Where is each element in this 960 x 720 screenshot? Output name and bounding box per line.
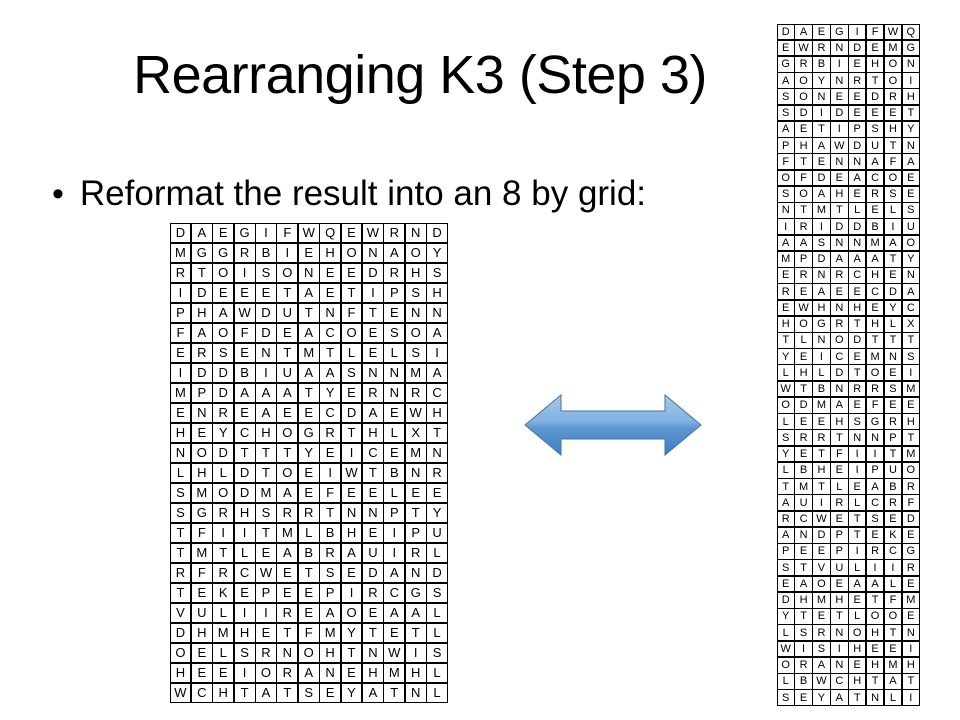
- main-grid-cell: E: [362, 603, 384, 624]
- main-grid-cell: C: [234, 423, 256, 444]
- side-grid-cell: O: [884, 608, 902, 625]
- side-grid-cell: M: [884, 40, 902, 57]
- main-grid-cell: P: [405, 523, 427, 544]
- side-grid-cell: Y: [902, 251, 920, 268]
- side-grid-cell: A: [866, 576, 884, 593]
- main-grid-cell: B: [383, 463, 405, 484]
- main-grid-cell: I: [383, 543, 405, 564]
- main-grid-cell: S: [212, 343, 234, 364]
- side-grid-cell: T: [848, 364, 866, 381]
- main-grid-cell: L: [426, 623, 448, 644]
- side-grid-cell: A: [902, 153, 920, 170]
- main-grid-cell: D: [255, 323, 277, 344]
- main-grid-cell: D: [341, 403, 363, 424]
- main-grid-cell: R: [191, 343, 213, 364]
- main-grid-cell: T: [276, 343, 298, 364]
- side-grid-cell: M: [777, 251, 795, 268]
- side-grid-cell: R: [794, 56, 812, 73]
- side-grid-cell: B: [866, 218, 884, 235]
- side-grid-cell: I: [884, 218, 902, 235]
- side-grid-cell: H: [848, 673, 866, 690]
- main-grid-cell: G: [298, 423, 320, 444]
- main-grid-cell: S: [255, 503, 277, 524]
- main-grid-cell: C: [191, 683, 213, 704]
- main-grid-cell: L: [234, 543, 256, 564]
- side-grid-cell: L: [777, 673, 795, 690]
- main-grid-cell: E: [383, 443, 405, 464]
- main-grid-cell: Y: [426, 503, 448, 524]
- side-grid-cell: I: [812, 218, 830, 235]
- side-grid-cell: R: [830, 494, 848, 511]
- side-grid-cell: T: [902, 673, 920, 690]
- side-grid-cell: H: [866, 657, 884, 674]
- side-grid-cell: R: [866, 543, 884, 560]
- main-grid-cell: P: [383, 503, 405, 524]
- main-grid-cell: U: [426, 523, 448, 544]
- main-grid-cell: N: [319, 663, 341, 684]
- side-grid-cell: N: [830, 300, 848, 317]
- side-grid-cell: T: [866, 592, 884, 609]
- main-grid-cell: L: [212, 603, 234, 624]
- main-grid-cell: Y: [341, 623, 363, 644]
- side-grid-cell: D: [902, 511, 920, 528]
- main-grid-cell: L: [383, 343, 405, 364]
- double-headed-arrow-icon: [523, 389, 703, 461]
- main-grid-cell: Q: [319, 223, 341, 244]
- side-grid-cell: I: [794, 641, 812, 658]
- side-grid-cell: N: [830, 657, 848, 674]
- main-grid-cell: A: [255, 403, 277, 424]
- side-grid-cell: O: [884, 72, 902, 89]
- main-grid-cell: T: [255, 523, 277, 544]
- side-grid-cell: Y: [812, 72, 830, 89]
- main-grid-cell: I: [234, 263, 256, 284]
- side-grid-cell: Q: [902, 24, 920, 41]
- side-grid-cell: A: [884, 673, 902, 690]
- main-grid-cell: W: [298, 223, 320, 244]
- main-grid-cell: T: [276, 283, 298, 304]
- main-grid-cell: E: [383, 403, 405, 424]
- main-grid-cell: R: [426, 463, 448, 484]
- side-grid-cell: S: [812, 641, 830, 658]
- main-grid-cell: E: [383, 303, 405, 324]
- side-grid-cell: W: [777, 641, 795, 658]
- main-grid-cell: I: [426, 343, 448, 364]
- side-grid-cell: A: [812, 186, 830, 203]
- main-grid-cell: H: [426, 403, 448, 424]
- side-grid-cell: A: [848, 251, 866, 268]
- side-grid-cell: I: [812, 105, 830, 122]
- side-grid-cell: P: [830, 527, 848, 544]
- main-grid-cell: L: [298, 523, 320, 544]
- main-grid-cell: T: [255, 443, 277, 464]
- side-grid-cell: C: [866, 283, 884, 300]
- side-grid-cell: A: [866, 153, 884, 170]
- main-grid-cell: F: [170, 323, 192, 344]
- side-grid-cell: E: [848, 478, 866, 495]
- main-grid-cell: M: [276, 523, 298, 544]
- side-grid-cell: E: [830, 576, 848, 593]
- side-grid-cell: P: [777, 543, 795, 560]
- side-grid-cell: E: [830, 170, 848, 187]
- side-grid-cell: W: [794, 40, 812, 57]
- side-grid-cell: S: [777, 105, 795, 122]
- main-grid-cell: G: [191, 503, 213, 524]
- main-grid-cell: R: [212, 403, 234, 424]
- side-grid-cell: T: [830, 429, 848, 446]
- main-grid-cell: I: [383, 523, 405, 544]
- side-grid-cell: R: [812, 624, 830, 641]
- side-grid-cell: E: [830, 283, 848, 300]
- main-grid-cell: E: [298, 583, 320, 604]
- main-grid-cell: E: [191, 583, 213, 604]
- side-grid-cell: H: [794, 137, 812, 154]
- main-grid-cell: I: [170, 283, 192, 304]
- side-grid-cell: Y: [812, 689, 830, 706]
- side-grid-cell: H: [866, 56, 884, 73]
- main-grid-cell: M: [255, 483, 277, 504]
- side-grid-cell: U: [866, 137, 884, 154]
- side-grid-cell: B: [794, 673, 812, 690]
- side-grid-cell: C: [830, 673, 848, 690]
- main-grid-cell: F: [191, 523, 213, 544]
- side-grid-cell: A: [830, 689, 848, 706]
- side-grid-cell: O: [884, 170, 902, 187]
- side-grid-cell: Y: [777, 608, 795, 625]
- main-grid-cell: X: [405, 423, 427, 444]
- side-grid-cell: N: [830, 381, 848, 398]
- main-grid-cell: A: [298, 363, 320, 384]
- main-grid-cell: T: [341, 643, 363, 664]
- main-grid-cell: R: [298, 503, 320, 524]
- side-grid-cell: R: [812, 429, 830, 446]
- side-grid-cell: R: [830, 316, 848, 333]
- side-grid-cell: P: [794, 251, 812, 268]
- main-grid-cell: A: [191, 323, 213, 344]
- side-grid-cell: O: [884, 56, 902, 73]
- main-grid-cell: H: [191, 623, 213, 644]
- side-grid-cell: E: [812, 543, 830, 560]
- side-grid-cell: E: [794, 689, 812, 706]
- side-grid-cell: H: [902, 413, 920, 430]
- main-grid-cell: Y: [341, 683, 363, 704]
- main-grid-cell: C: [319, 403, 341, 424]
- main-grid-cell: E: [341, 663, 363, 684]
- side-grid-cell: E: [830, 511, 848, 528]
- side-grid-cell: H: [848, 300, 866, 317]
- side-grid-cell: L: [848, 559, 866, 576]
- side-grid-cell: I: [902, 641, 920, 658]
- main-grid-cell: R: [276, 603, 298, 624]
- side-grid-cell: R: [830, 267, 848, 284]
- main-grid-cell: B: [234, 363, 256, 384]
- main-grid-cell: R: [170, 563, 192, 584]
- side-grid-cell: H: [866, 316, 884, 333]
- main-grid-cell: H: [319, 643, 341, 664]
- side-grid-cell: T: [884, 624, 902, 641]
- side-grid-cell: V: [812, 559, 830, 576]
- side-grid-cell: I: [884, 559, 902, 576]
- side-grid-cell: S: [884, 381, 902, 398]
- side-grid-cell: L: [830, 478, 848, 495]
- side-grid-cell: Y: [777, 446, 795, 463]
- side-grid-cell: I: [848, 24, 866, 41]
- main-grid-cell: D: [362, 263, 384, 284]
- side-grid-cell: P: [866, 462, 884, 479]
- side-grid-cell: I: [830, 56, 848, 73]
- side-grid-cell: M: [866, 348, 884, 365]
- side-grid-cell: N: [902, 624, 920, 641]
- main-grid-cell: M: [212, 623, 234, 644]
- main-grid-cell: N: [362, 363, 384, 384]
- main-grid-cell: A: [276, 483, 298, 504]
- side-grid-cell: C: [884, 543, 902, 560]
- main-grid-cell: M: [383, 663, 405, 684]
- side-grid-cell: H: [812, 300, 830, 317]
- side-grid-cell: N: [848, 153, 866, 170]
- main-grid-cell: E: [276, 583, 298, 604]
- side-grid-cell: A: [884, 235, 902, 252]
- side-grid-cell: C: [830, 348, 848, 365]
- side-grid-cell: N: [830, 40, 848, 57]
- side-grid-cell: D: [777, 24, 795, 41]
- side-grid-cell: G: [812, 316, 830, 333]
- main-grid-cell: M: [405, 443, 427, 464]
- main-grid-cell: D: [362, 563, 384, 584]
- side-grid-cell: T: [812, 478, 830, 495]
- side-grid-cell: F: [830, 446, 848, 463]
- main-grid-cell: S: [170, 503, 192, 524]
- main-grid-cell: A: [383, 563, 405, 584]
- side-grid-cell: A: [812, 137, 830, 154]
- side-grid-cell: P: [830, 543, 848, 560]
- main-grid-cell: E: [298, 463, 320, 484]
- main-grid-cell: O: [405, 323, 427, 344]
- side-grid-cell: A: [777, 235, 795, 252]
- side-grid-cell: R: [777, 511, 795, 528]
- main-grid-cell: B: [255, 243, 277, 264]
- main-grid-cell: L: [426, 663, 448, 684]
- side-grid-cell: I: [830, 121, 848, 138]
- main-grid-cell: E: [341, 383, 363, 404]
- side-grid-cell: I: [866, 446, 884, 463]
- side-grid-cell: A: [777, 527, 795, 544]
- main-grid-cell: T: [298, 383, 320, 404]
- main-grid-cell: I: [362, 283, 384, 304]
- side-grid-cell: T: [794, 381, 812, 398]
- main-grid-cell: O: [341, 603, 363, 624]
- side-grid-cell: E: [830, 462, 848, 479]
- main-grid-cell: T: [170, 523, 192, 544]
- side-grid-cell: D: [884, 283, 902, 300]
- main-grid-cell: E: [341, 563, 363, 584]
- side-grid-cell: E: [884, 397, 902, 414]
- side-grid-cell: N: [830, 153, 848, 170]
- side-grid-cell: C: [866, 170, 884, 187]
- side-grid-cell: S: [848, 413, 866, 430]
- side-grid-cell: C: [794, 511, 812, 528]
- main-grid-cell: I: [341, 583, 363, 604]
- main-grid-cell: E: [276, 563, 298, 584]
- main-grid-cell: S: [298, 683, 320, 704]
- side-grid-cell: L: [884, 316, 902, 333]
- main-grid-cell: O: [255, 663, 277, 684]
- main-grid-cell: F: [234, 323, 256, 344]
- main-grid-cell: T: [341, 283, 363, 304]
- main-grid-cell: H: [362, 663, 384, 684]
- main-grid-cell: N: [319, 303, 341, 324]
- main-grid-cell: C: [319, 323, 341, 344]
- side-grid-cell: I: [902, 689, 920, 706]
- main-grid-cell: E: [319, 263, 341, 284]
- main-grid-cell: O: [405, 243, 427, 264]
- side-grid-cell: E: [794, 348, 812, 365]
- main-grid-cell: H: [341, 523, 363, 544]
- main-grid-cell: N: [426, 303, 448, 324]
- side-grid-cell: F: [866, 397, 884, 414]
- side-grid-cell: O: [794, 316, 812, 333]
- side-grid-cell: H: [794, 592, 812, 609]
- side-grid-cell: N: [866, 689, 884, 706]
- side-grid-cell: O: [777, 657, 795, 674]
- side-grid-cell: T: [866, 673, 884, 690]
- side-grid-cell: T: [848, 527, 866, 544]
- main-grid-cell: R: [405, 383, 427, 404]
- side-grid-cell: O: [902, 462, 920, 479]
- main-grid-cell: A: [362, 683, 384, 704]
- main-grid-cell: P: [319, 583, 341, 604]
- main-grid-cell: N: [405, 303, 427, 324]
- slide-canvas: Rearranging K3 (Step 3) • Reformat the r…: [0, 0, 960, 720]
- main-grid-cell: E: [212, 663, 234, 684]
- side-grid-cell: N: [902, 267, 920, 284]
- side-grid-cell: O: [848, 624, 866, 641]
- main-grid-cell: D: [234, 463, 256, 484]
- side-grid-cell: I: [812, 494, 830, 511]
- side-grid-cell: A: [830, 251, 848, 268]
- main-grid-cell: R: [362, 383, 384, 404]
- main-grid-cell: L: [212, 643, 234, 664]
- main-grid-cell: N: [405, 563, 427, 584]
- main-grid-cell: D: [170, 623, 192, 644]
- source-letter-grid: DAEGIFWQEWRNDEMGGRBIEHONAOYNRTOISONEEDRH…: [777, 24, 920, 706]
- bullet-item-label: Reformat the result into an 8 by grid:: [80, 175, 646, 214]
- main-grid-cell: E: [319, 283, 341, 304]
- main-grid-cell: N: [426, 443, 448, 464]
- side-grid-cell: A: [848, 170, 866, 187]
- main-grid-cell: O: [212, 323, 234, 344]
- main-grid-cell: R: [319, 543, 341, 564]
- side-grid-cell: N: [830, 624, 848, 641]
- side-grid-cell: E: [848, 56, 866, 73]
- main-grid-cell: I: [170, 363, 192, 384]
- side-grid-cell: N: [848, 429, 866, 446]
- main-grid-cell: A: [319, 603, 341, 624]
- side-grid-cell: O: [866, 364, 884, 381]
- main-grid-cell: T: [319, 343, 341, 364]
- main-grid-cell: S: [426, 263, 448, 284]
- main-grid-cell: E: [362, 483, 384, 504]
- side-grid-cell: T: [884, 332, 902, 349]
- side-grid-cell: N: [812, 88, 830, 105]
- main-grid-cell: T: [362, 623, 384, 644]
- side-grid-cell: O: [866, 608, 884, 625]
- main-grid-cell: N: [405, 223, 427, 244]
- side-grid-cell: E: [866, 300, 884, 317]
- main-grid-cell: S: [383, 323, 405, 344]
- main-grid-cell: E: [255, 283, 277, 304]
- main-grid-cell: R: [234, 243, 256, 264]
- side-grid-cell: P: [884, 429, 902, 446]
- side-grid-cell: O: [777, 170, 795, 187]
- main-grid-cell: L: [426, 543, 448, 564]
- side-grid-cell: H: [812, 462, 830, 479]
- main-grid-cell: E: [255, 543, 277, 564]
- side-grid-cell: E: [777, 576, 795, 593]
- side-grid-cell: S: [902, 202, 920, 219]
- side-grid-cell: T: [884, 446, 902, 463]
- side-grid-cell: D: [830, 105, 848, 122]
- side-grid-cell: E: [848, 283, 866, 300]
- main-grid-cell: A: [405, 603, 427, 624]
- side-grid-cell: A: [777, 494, 795, 511]
- main-grid-cell: W: [383, 643, 405, 664]
- side-grid-cell: Y: [902, 121, 920, 138]
- side-grid-cell: C: [866, 494, 884, 511]
- side-grid-cell: S: [777, 559, 795, 576]
- side-grid-cell: R: [812, 40, 830, 57]
- main-grid-cell: O: [191, 443, 213, 464]
- main-grid-cell: P: [255, 583, 277, 604]
- side-grid-cell: B: [884, 478, 902, 495]
- main-grid-cell: H: [191, 303, 213, 324]
- side-grid-cell: O: [902, 235, 920, 252]
- side-grid-cell: E: [777, 40, 795, 57]
- bullet-item: • Reformat the result into an 8 by grid:: [52, 175, 646, 214]
- side-grid-cell: E: [848, 397, 866, 414]
- main-grid-cell: O: [298, 643, 320, 664]
- side-grid-cell: P: [777, 137, 795, 154]
- main-grid-cell: H: [362, 423, 384, 444]
- main-grid-cell: S: [341, 363, 363, 384]
- side-grid-cell: E: [884, 511, 902, 528]
- side-grid-cell: I: [848, 446, 866, 463]
- main-grid-cell: A: [298, 663, 320, 684]
- side-grid-cell: I: [848, 543, 866, 560]
- main-grid-cell: E: [234, 343, 256, 364]
- side-grid-cell: N: [866, 429, 884, 446]
- side-grid-cell: F: [884, 592, 902, 609]
- main-grid-cell: O: [170, 643, 192, 664]
- main-grid-cell: P: [191, 383, 213, 404]
- main-grid-cell: C: [383, 583, 405, 604]
- main-grid-cell: A: [341, 543, 363, 564]
- side-grid-cell: S: [777, 689, 795, 706]
- side-grid-cell: H: [902, 88, 920, 105]
- side-grid-cell: E: [794, 283, 812, 300]
- side-grid-cell: L: [777, 624, 795, 641]
- main-grid-cell: A: [426, 363, 448, 384]
- side-grid-cell: T: [866, 332, 884, 349]
- side-grid-cell: H: [794, 364, 812, 381]
- side-grid-cell: T: [794, 608, 812, 625]
- side-grid-cell: T: [777, 478, 795, 495]
- main-grid-cell: Y: [212, 423, 234, 444]
- main-grid-cell: D: [191, 283, 213, 304]
- main-grid-cell: N: [276, 643, 298, 664]
- side-grid-cell: E: [794, 121, 812, 138]
- main-grid-cell: L: [341, 343, 363, 364]
